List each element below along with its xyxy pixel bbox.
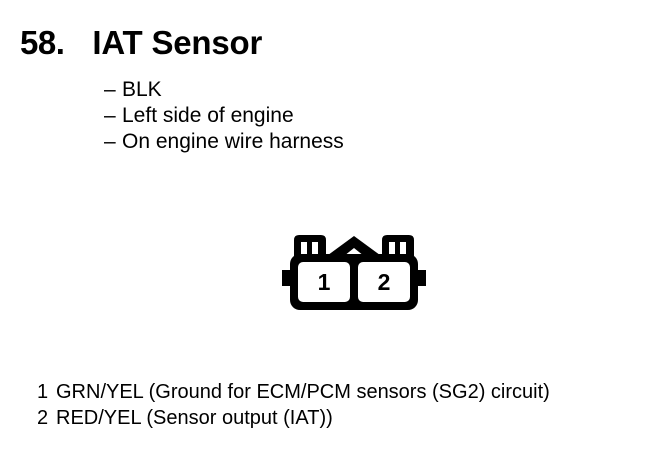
pin-number-1: 1 [318, 269, 331, 295]
left-tab-slot-a [301, 242, 307, 254]
legend-pin-text: RED/YEL (Sensor output (IAT)) [56, 405, 333, 431]
list-item: – Left side of engine [104, 103, 344, 129]
pin-legend: 1 GRN/YEL (Ground for ECM/PCM sensors (S… [37, 379, 550, 431]
legend-pin-text: GRN/YEL (Ground for ECM/PCM sensors (SG2… [56, 379, 550, 405]
spec-text: On engine wire harness [122, 129, 344, 155]
section-number: 58. [20, 24, 64, 62]
legend-pin-number: 2 [37, 405, 56, 431]
spec-text: Left side of engine [122, 103, 294, 129]
dash-icon: – [104, 77, 122, 103]
page-title: 58. IAT Sensor [20, 24, 262, 66]
list-item: 2 RED/YEL (Sensor output (IAT)) [37, 405, 550, 431]
dash-icon: – [104, 129, 122, 155]
connector-diagram: 1 2 [278, 226, 430, 318]
pin-number-2: 2 [378, 269, 391, 295]
spec-list: – BLK – Left side of engine – On engine … [104, 77, 344, 155]
page-title-text: IAT Sensor [92, 24, 262, 62]
list-item: – BLK [104, 77, 344, 103]
spec-text: BLK [122, 77, 162, 103]
legend-pin-number: 1 [37, 379, 56, 405]
dash-icon: – [104, 103, 122, 129]
list-item: 1 GRN/YEL (Ground for ECM/PCM sensors (S… [37, 379, 550, 405]
right-tab-slot-a [389, 242, 395, 254]
right-tab-slot-b [400, 242, 406, 254]
list-item: – On engine wire harness [104, 129, 344, 155]
left-tab-slot-b [312, 242, 318, 254]
